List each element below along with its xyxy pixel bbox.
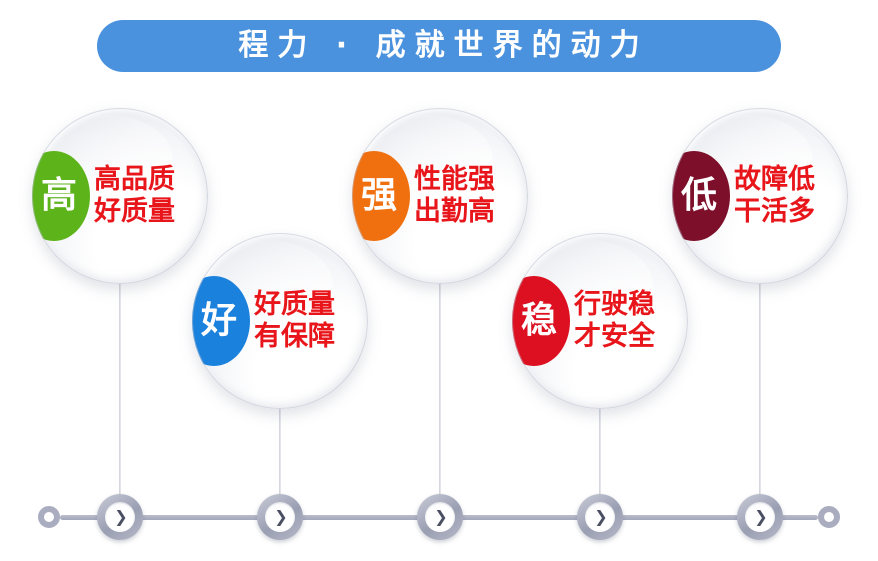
- timeline-cap-left: [38, 506, 60, 528]
- timeline-node-inner: ❯: [425, 502, 455, 532]
- bubble-line1: 故障低: [734, 164, 815, 195]
- feature-bubble-performance[interactable]: 强 性能强 出勤高: [352, 108, 528, 284]
- timeline-node-inner: ❯: [745, 502, 775, 532]
- connector-stem-5: [759, 280, 761, 518]
- bubble-text-5: 故障低 干活多: [734, 164, 815, 228]
- bubble-line2: 出勤高: [414, 196, 495, 228]
- chevron-right-icon: ❯: [594, 509, 607, 525]
- badge-label: 低: [681, 178, 717, 214]
- chevron-right-icon: ❯: [434, 509, 447, 525]
- badge-strong-icon: 强: [352, 151, 410, 241]
- chevron-right-icon: ❯: [274, 509, 287, 525]
- badge-stable-icon: 稳: [512, 276, 570, 366]
- badge-label: 好: [201, 303, 237, 339]
- chevron-right-icon: ❯: [114, 509, 127, 525]
- bubble-line1: 性能强: [414, 164, 495, 195]
- badge-low-icon: 低: [672, 151, 730, 241]
- bubble-line2: 有保障: [254, 321, 335, 353]
- bubble-text-2: 好质量 有保障: [254, 289, 335, 353]
- timeline-node-3[interactable]: ❯: [417, 494, 463, 540]
- badge-label: 稳: [521, 303, 557, 339]
- header-banner: 程力 · 成就世界的动力: [97, 20, 781, 72]
- banner-title: 程力 · 成就世界的动力: [229, 31, 648, 61]
- badge-label: 强: [361, 178, 397, 214]
- timeline-node-inner: ❯: [105, 502, 135, 532]
- timeline-node-inner: ❯: [265, 502, 295, 532]
- bubble-text-1: 高品质 好质量: [94, 164, 175, 228]
- connector-stem-1: [119, 280, 121, 518]
- timeline-node-4[interactable]: ❯: [577, 494, 623, 540]
- infographic-canvas: 程力 · 成就世界的动力 高 高品质 好质量 好 好质量 有保障 强: [0, 0, 878, 561]
- bubble-line1: 行驶稳: [574, 289, 655, 320]
- timeline-node-inner: ❯: [585, 502, 615, 532]
- feature-bubble-low-failure[interactable]: 低 故障低 干活多: [672, 108, 848, 284]
- timeline-node-1[interactable]: ❯: [97, 494, 143, 540]
- timeline-node-2[interactable]: ❯: [257, 494, 303, 540]
- timeline-node-5[interactable]: ❯: [737, 494, 783, 540]
- timeline-cap-right: [818, 506, 840, 528]
- badge-label: 高: [41, 178, 77, 214]
- bubble-line2: 好质量: [94, 196, 175, 228]
- bubble-line1: 好质量: [254, 289, 335, 320]
- chevron-right-icon: ❯: [754, 509, 767, 525]
- bubble-text-3: 性能强 出勤高: [414, 164, 495, 228]
- connector-stem-3: [439, 280, 441, 518]
- bubble-line2: 才安全: [574, 321, 655, 353]
- bubble-text-4: 行驶稳 才安全: [574, 289, 655, 353]
- feature-bubble-high-quality[interactable]: 高 高品质 好质量: [32, 108, 208, 284]
- bubble-line1: 高品质: [94, 164, 175, 195]
- feature-bubble-quality-guarantee[interactable]: 好 好质量 有保障: [192, 233, 368, 409]
- badge-high-icon: 高: [32, 151, 90, 241]
- feature-bubble-stability[interactable]: 稳 行驶稳 才安全: [512, 233, 688, 409]
- badge-good-icon: 好: [192, 276, 250, 366]
- bubble-line2: 干活多: [734, 196, 815, 228]
